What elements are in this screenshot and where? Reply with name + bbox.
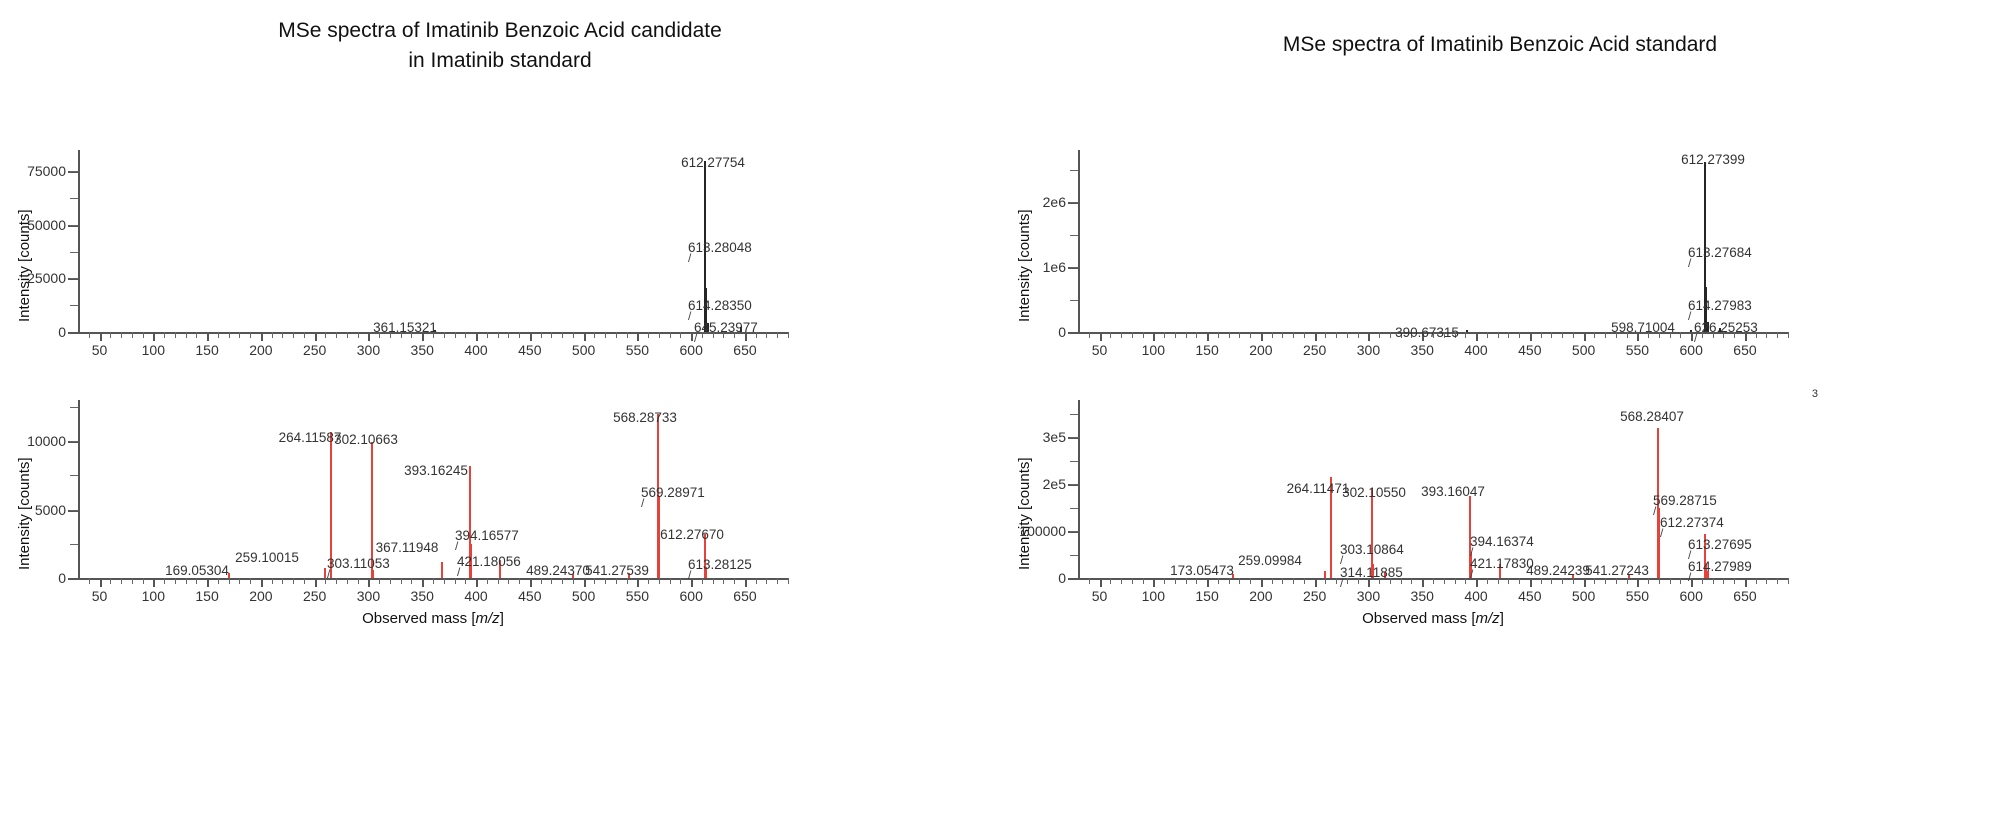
x-axis-tick-major: [1637, 578, 1639, 587]
peak-annotation-label: 614.28350: [688, 298, 752, 313]
peak-annotation-label: 361.15321: [373, 320, 437, 335]
x-axis-tick: [1519, 332, 1520, 338]
leader-line: /: [457, 567, 460, 577]
x-axis-tick: [594, 332, 595, 338]
x-axis-tick-label: 550: [626, 588, 649, 604]
x-axis-tick: [1777, 332, 1778, 338]
x-axis-tick: [1110, 578, 1111, 584]
x-axis-tick: [1336, 332, 1337, 338]
x-axis-tick-major: [637, 578, 639, 587]
x-axis-tick: [1766, 332, 1767, 338]
x-axis-tick-label: 50: [1092, 588, 1108, 604]
x-axis-tick-label: 100: [142, 588, 165, 604]
x-axis-tick: [455, 332, 456, 338]
y-axis-tick: [70, 278, 78, 279]
x-axis-tick-label: 250: [1303, 342, 1326, 358]
x-axis-tick: [1186, 578, 1187, 584]
y-axis-tick: [70, 225, 78, 226]
leader-line: /: [1660, 528, 1663, 538]
x-axis-tick-major: [1315, 578, 1317, 587]
spectrum-peak: [1324, 571, 1326, 578]
peak-annotation-label: 613.27695: [1688, 537, 1752, 552]
x-axis-tick-label: 50: [1092, 342, 1108, 358]
x-axis-tick: [229, 332, 230, 338]
x-axis-tick-major: [315, 578, 317, 587]
x-axis-tick-major: [584, 578, 586, 587]
x-axis-tick-major: [100, 578, 102, 587]
y-axis-tick: [70, 252, 78, 253]
x-axis-label: Observed mass [m/z]: [1362, 610, 1504, 627]
x-axis-label-prefix: Observed mass [: [1362, 610, 1475, 627]
x-axis-tick-major: [1476, 332, 1478, 341]
x-axis-tick-label: 400: [1464, 342, 1487, 358]
x-axis-tick: [110, 332, 111, 338]
peak-annotation-label: 568.28407: [1620, 409, 1684, 424]
x-axis-tick: [1680, 578, 1681, 584]
x-axis-label: Observed mass [m/z]: [362, 610, 504, 627]
leader-line: /: [688, 253, 691, 263]
peak-annotation-label: 612.27670: [660, 527, 724, 542]
leader-line: /: [694, 333, 697, 343]
leader-line: /: [1653, 506, 1656, 516]
x-axis-tick: [1175, 578, 1176, 584]
x-axis-tick: [186, 578, 187, 584]
x-axis-tick: [1336, 578, 1337, 584]
x-axis-tick-major: [261, 578, 263, 587]
y-axis-tick-label: 1e6: [1043, 259, 1066, 275]
x-axis-tick-label: 50: [92, 342, 108, 358]
x-axis-tick: [551, 578, 552, 584]
x-axis-tick-label: 650: [733, 588, 756, 604]
x-axis-tick: [110, 578, 111, 584]
x-axis-tick: [272, 578, 273, 584]
y-axis-tick: [70, 475, 78, 476]
plot-area-left-top: 5010015020025030035040045050055060065075…: [78, 150, 788, 332]
y-axis-tick-label: 0: [1058, 570, 1066, 586]
x-axis-tick: [175, 332, 176, 338]
x-axis-tick: [777, 332, 778, 338]
y-axis-tick-major: [1068, 578, 1078, 580]
x-axis-tick: [1498, 578, 1499, 584]
peak-annotation-label: 612.27399: [1681, 152, 1745, 167]
y-axis-tick: [1070, 484, 1078, 485]
leader-line: /: [1688, 311, 1691, 321]
panel-left: MSe spectra of Imatinib Benzoic Acid can…: [0, 0, 1000, 837]
x-axis-tick: [1272, 332, 1273, 338]
x-axis-tick-major: [315, 332, 317, 341]
x-axis-tick: [562, 578, 563, 584]
peak-annotation-label: 612.27374: [1660, 515, 1724, 530]
x-axis-tick: [1551, 332, 1552, 338]
x-axis-tick-major: [1261, 332, 1263, 341]
x-axis-tick: [304, 578, 305, 584]
leader-line: /: [1340, 578, 1343, 588]
x-axis-tick: [1250, 332, 1251, 338]
peak-annotation-label: 303.11053: [327, 556, 390, 571]
x-axis-tick: [1788, 578, 1789, 584]
x-axis-tick-label: 200: [1249, 588, 1272, 604]
x-axis-tick: [627, 332, 628, 338]
x-axis-tick: [401, 578, 402, 584]
x-axis-tick: [239, 578, 240, 584]
x-axis-tick-major: [637, 332, 639, 341]
y-axis-tick: [70, 305, 78, 306]
x-axis-tick: [433, 578, 434, 584]
x-axis-tick: [186, 332, 187, 338]
y-axis-tick: [1070, 555, 1078, 556]
x-axis-tick-major: [1100, 332, 1102, 341]
x-axis-tick-label: 500: [572, 588, 595, 604]
axis-exponent-note: 3: [1812, 388, 1818, 400]
x-axis-tick-major: [530, 332, 532, 341]
x-axis-tick-major: [1691, 578, 1693, 587]
x-axis-tick: [282, 332, 283, 338]
x-axis-tick-label: 150: [1195, 588, 1218, 604]
x-axis-tick-major: [476, 578, 478, 587]
y-axis-label-left-bottom: Intensity [counts]: [16, 457, 33, 570]
x-axis-tick: [455, 578, 456, 584]
x-axis-tick: [121, 332, 122, 338]
x-axis-tick: [143, 578, 144, 584]
x-axis-tick: [670, 578, 671, 584]
x-axis-tick: [777, 578, 778, 584]
x-axis-tick: [1788, 332, 1789, 338]
x-axis-tick: [788, 578, 789, 584]
x-axis-tick: [1143, 332, 1144, 338]
x-axis-tick: [702, 578, 703, 584]
x-axis-tick-major: [745, 578, 747, 587]
x-axis-tick: [1723, 578, 1724, 584]
x-axis-tick-label: 150: [195, 342, 218, 358]
chart-title-left-line2: in Imatinib standard: [0, 46, 1000, 76]
y-axis-tick: [70, 198, 78, 199]
x-axis-tick: [713, 578, 714, 584]
x-axis-tick: [444, 332, 445, 338]
x-axis-tick-label: 600: [679, 588, 702, 604]
x-axis-tick: [1734, 578, 1735, 584]
chart-right-top: Intensity [counts] 501001502002503003504…: [1078, 150, 1788, 332]
y-axis-tick-label: 10000: [27, 433, 66, 449]
spectrum-peak: [372, 570, 374, 578]
x-axis-tick-label: 400: [464, 342, 487, 358]
x-axis-tick: [1455, 578, 1456, 584]
x-axis-tick: [1282, 578, 1283, 584]
x-axis-tick-major: [1530, 332, 1532, 341]
x-axis-tick: [1594, 578, 1595, 584]
x-axis-tick-label: 350: [1411, 342, 1434, 358]
x-axis-tick: [304, 332, 305, 338]
x-axis-tick: [508, 578, 509, 584]
x-axis-tick-major: [1207, 578, 1209, 587]
x-axis-tick-major: [207, 578, 209, 587]
x-axis-tick-major: [368, 332, 370, 341]
peak-annotation-label: 393.16047: [1421, 484, 1485, 499]
y-axis-label-right-top: Intensity [counts]: [1016, 209, 1033, 322]
x-axis-tick: [1132, 332, 1133, 338]
x-axis-tick: [1218, 578, 1219, 584]
x-axis-tick: [1089, 332, 1090, 338]
y-axis-tick-major: [68, 332, 78, 334]
x-axis-tick-major: [100, 332, 102, 341]
x-axis-tick: [541, 332, 542, 338]
x-axis-tick-label: 400: [1464, 588, 1487, 604]
y-axis-tick-label: 0: [58, 570, 66, 586]
x-axis-tick-label: 450: [518, 588, 541, 604]
peak-annotation-label: 613.27684: [1688, 245, 1752, 260]
x-axis-tick: [627, 578, 628, 584]
x-axis-tick: [498, 332, 499, 338]
x-axis-tick: [1777, 578, 1778, 584]
x-axis-tick: [616, 578, 617, 584]
leader-line: /: [688, 570, 691, 580]
x-axis-tick: [605, 332, 606, 338]
x-axis-tick: [1121, 332, 1122, 338]
x-axis-tick: [1487, 332, 1488, 338]
x-axis-tick: [1605, 332, 1606, 338]
y-axis-tick-label: 3e5: [1043, 429, 1066, 445]
x-axis-tick-label: 600: [1679, 342, 1702, 358]
x-axis-tick-major: [1745, 578, 1747, 587]
x-axis-tick: [1218, 332, 1219, 338]
x-axis-tick: [164, 578, 165, 584]
chart-title-right-line1: MSe spectra of Imatinib Benzoic Acid sta…: [1000, 30, 2000, 60]
x-axis-tick: [605, 578, 606, 584]
x-axis-tick: [1293, 332, 1294, 338]
x-axis-tick-major: [207, 332, 209, 341]
x-axis-tick: [1164, 332, 1165, 338]
x-axis-tick: [766, 332, 767, 338]
peak-annotation-label: 569.28715: [1653, 493, 1717, 508]
x-axis-tick: [1551, 578, 1552, 584]
x-axis-tick-label: 350: [411, 588, 434, 604]
leader-line: /: [641, 498, 644, 508]
y-axis-tick: [1070, 414, 1078, 415]
x-axis-tick-label: 50: [92, 588, 108, 604]
peak-annotation-label: 489.24239: [1526, 563, 1590, 578]
x-axis-tick-label: 250: [1303, 588, 1326, 604]
x-axis-tick: [1498, 332, 1499, 338]
x-axis-tick-label: 200: [249, 342, 272, 358]
x-axis-tick: [1175, 332, 1176, 338]
x-axis-tick: [250, 578, 251, 584]
peak-annotation-label: 393.16245: [404, 463, 468, 478]
x-axis-tick: [465, 578, 466, 584]
x-axis-tick-label: 250: [303, 588, 326, 604]
x-axis-tick-major: [1584, 578, 1586, 587]
x-axis-tick-label: 450: [1518, 588, 1541, 604]
x-axis-tick: [1519, 578, 1520, 584]
x-axis-tick-major: [691, 332, 693, 341]
panel-right: MSe spectra of Imatinib Benzoic Acid sta…: [1000, 0, 2000, 837]
x-axis-tick-label: 300: [1357, 588, 1380, 604]
x-axis-tick: [89, 332, 90, 338]
x-axis-tick-label: 650: [1733, 588, 1756, 604]
x-axis-tick: [132, 578, 133, 584]
x-axis-tick-label: 200: [249, 588, 272, 604]
y-axis-tick-label: 50000: [27, 217, 66, 233]
x-axis-tick-label: 300: [1357, 342, 1380, 358]
x-axis-label-suffix: ]: [1500, 610, 1504, 627]
x-axis-tick: [1132, 578, 1133, 584]
x-axis-tick-major: [1153, 332, 1155, 341]
leader-line: /: [455, 541, 458, 551]
x-axis-tick-label: 550: [1626, 588, 1649, 604]
x-axis-tick: [1143, 578, 1144, 584]
x-axis-tick: [1089, 578, 1090, 584]
x-axis-tick-label: 550: [626, 342, 649, 358]
y-axis-tick: [70, 510, 78, 511]
x-axis-tick: [1347, 332, 1348, 338]
y-axis-tick: [1070, 170, 1078, 171]
x-axis-tick: [121, 578, 122, 584]
leader-line: /: [1694, 333, 1697, 343]
x-axis-tick: [218, 578, 219, 584]
peak-annotation-label: 394.16374: [1470, 534, 1534, 549]
x-axis-tick: [680, 332, 681, 338]
peak-annotation-label: 614.27983: [1688, 298, 1752, 313]
y-axis-tick-label: 75000: [27, 163, 66, 179]
x-axis-tick: [293, 578, 294, 584]
x-axis-tick: [541, 578, 542, 584]
leader-line: /: [1688, 258, 1691, 268]
x-axis-tick: [1444, 578, 1445, 584]
x-axis-tick: [1680, 332, 1681, 338]
x-axis-tick: [1562, 578, 1563, 584]
x-axis-tick: [1670, 578, 1671, 584]
x-axis-tick-label: 600: [679, 342, 702, 358]
x-axis-tick-label: 500: [572, 342, 595, 358]
x-axis-tick: [1186, 332, 1187, 338]
x-axis-tick: [766, 578, 767, 584]
x-axis-tick: [1713, 578, 1714, 584]
x-axis-tick: [1702, 578, 1703, 584]
peak-annotation-label: 394.16577: [455, 528, 519, 543]
x-axis-tick-major: [368, 578, 370, 587]
x-axis-tick: [1605, 578, 1606, 584]
leader-line: /: [1470, 569, 1473, 579]
x-axis-tick: [143, 332, 144, 338]
x-axis-tick: [347, 332, 348, 338]
y-axis-tick: [1070, 235, 1078, 236]
x-axis-tick-major: [691, 578, 693, 587]
peak-annotation-label: 541.27539: [585, 563, 649, 578]
x-axis-tick-label: 550: [1626, 342, 1649, 358]
x-axis-tick: [594, 578, 595, 584]
x-axis-tick: [648, 332, 649, 338]
x-axis-tick: [1325, 578, 1326, 584]
x-axis-tick-major: [1261, 578, 1263, 587]
x-axis-tick-major: [1207, 332, 1209, 341]
x-axis-tick: [1541, 332, 1542, 338]
x-axis-tick: [1250, 578, 1251, 584]
x-axis-tick: [1121, 578, 1122, 584]
x-axis-tick-major: [1422, 578, 1424, 587]
x-axis-tick: [680, 578, 681, 584]
x-axis-tick: [390, 578, 391, 584]
x-axis-tick: [358, 332, 359, 338]
x-axis-tick-label: 300: [357, 588, 380, 604]
peak-annotation-label: 302.10550: [1342, 485, 1406, 500]
peak-annotation-label: 541.27243: [1585, 563, 1649, 578]
chart-title-right: MSe spectra of Imatinib Benzoic Acid sta…: [1000, 30, 2000, 60]
plot-area-right-top: 501001502002503003504004505005506006502e…: [1078, 150, 1788, 332]
x-axis-tick: [1659, 578, 1660, 584]
x-axis-tick: [164, 332, 165, 338]
peak-annotation-label: 612.27754: [681, 155, 745, 170]
y-axis-label-right-bottom: Intensity [counts]: [1016, 457, 1033, 570]
x-axis-tick: [282, 578, 283, 584]
x-axis-tick-label: 500: [1572, 588, 1595, 604]
y-axis-tick: [1070, 508, 1078, 509]
x-axis-tick-major: [1691, 332, 1693, 341]
y-axis-tick: [1070, 531, 1078, 532]
x-axis-tick-label: 600: [1679, 588, 1702, 604]
x-axis-tick: [293, 332, 294, 338]
y-axis-tick-label: 0: [1058, 324, 1066, 340]
x-axis-tick: [1239, 332, 1240, 338]
y-axis-tick: [70, 171, 78, 172]
x-axis-tick: [551, 332, 552, 338]
y-axis-tick-label: 25000: [27, 270, 66, 286]
x-axis-tick-major: [153, 578, 155, 587]
x-axis-tick: [1293, 578, 1294, 584]
x-axis-tick-label: 200: [1249, 342, 1272, 358]
x-axis-tick-label: 100: [142, 342, 165, 358]
spectrum-peak: [441, 562, 443, 578]
peak-annotation-label: 421.17830: [1470, 556, 1534, 571]
leader-line: /: [327, 569, 330, 579]
x-axis-tick: [175, 578, 176, 584]
spectrum-peak: [1466, 330, 1468, 332]
x-axis-tick: [648, 578, 649, 584]
peak-annotation-label: 264.11471: [1287, 481, 1350, 496]
x-axis-tick: [1196, 332, 1197, 338]
x-axis-tick-label: 150: [195, 588, 218, 604]
y-axis-tick-label: 2e5: [1043, 476, 1066, 492]
y-axis-tick: [1070, 202, 1078, 203]
x-axis-tick: [358, 578, 359, 584]
x-axis-tick-label: 300: [357, 342, 380, 358]
x-axis-tick-label: 400: [464, 588, 487, 604]
x-axis-tick: [1239, 578, 1240, 584]
x-axis-tick-label: 100: [1142, 342, 1165, 358]
x-axis-tick: [1433, 578, 1434, 584]
x-axis-tick: [1229, 332, 1230, 338]
x-axis-tick: [250, 332, 251, 338]
x-axis-tick: [659, 578, 660, 584]
peak-annotation-label: 390.67315: [1395, 325, 1459, 340]
x-axis-tick: [336, 332, 337, 338]
peak-annotation-label: 421.18056: [457, 554, 521, 569]
x-axis-tick: [229, 578, 230, 584]
x-axis-tick-major: [1476, 578, 1478, 587]
x-axis-tick: [132, 332, 133, 338]
x-axis-tick: [498, 578, 499, 584]
x-axis-tick: [1616, 578, 1617, 584]
peak-annotation-label: 489.24370: [526, 563, 590, 578]
x-axis-tick: [1594, 332, 1595, 338]
chart-title-left: MSe spectra of Imatinib Benzoic Acid can…: [0, 16, 1000, 76]
y-axis-tick: [70, 407, 78, 408]
x-axis-tick: [1358, 332, 1359, 338]
x-axis-tick: [379, 578, 380, 584]
x-axis-tick: [723, 578, 724, 584]
x-axis-tick-label: 650: [733, 342, 756, 358]
x-axis-tick: [1304, 578, 1305, 584]
y-axis-tick: [1070, 300, 1078, 301]
x-axis-tick-major: [1315, 332, 1317, 341]
y-axis-tick: [1070, 437, 1078, 438]
